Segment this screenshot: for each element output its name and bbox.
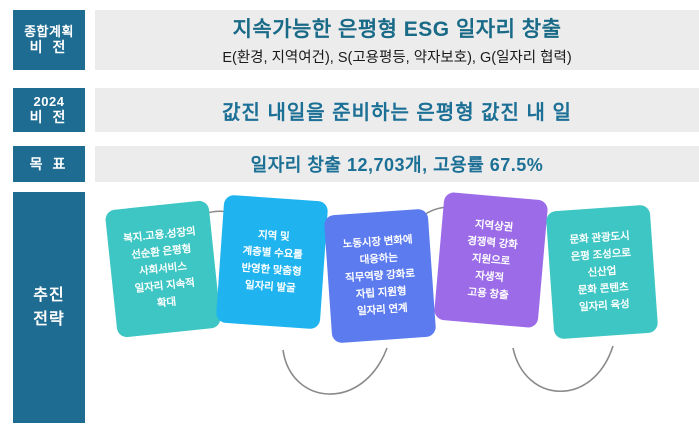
strategy-item-5-text: 문화 관광도시 은평 조성으로 신산업 문화 콘텐츠 일자리 육성 [569,228,635,317]
strategy-label-line2: 전략 [33,308,64,332]
goal-title: 일자리 창출 12,703개, 고용률 67.5% [251,151,544,177]
vision-row-content: 지속가능한 은평형 ESG 일자리 창출 E(환경, 지역여건), S(고용평등… [95,10,699,70]
vision-title: 지속가능한 은평형 ESG 일자리 창출 [233,13,562,43]
strategy-label-line1: 추진 [33,284,64,308]
vision-2024-row: 2024 비 전 값진 내일을 준비하는 은평형 값진 내 일 [0,88,699,132]
strategy-item-1: 복지.고용.성장의 선순환 은평형 사회서비스 일자리 지속적 확대 [105,200,222,338]
vision-row-label: 종합계획 비 전 [13,10,85,70]
vision-row: 종합계획 비 전 지속가능한 은평형 ESG 일자리 창출 E(환경, 지역여건… [0,10,699,70]
goal-row-content: 일자리 창출 12,703개, 고용률 67.5% [95,146,699,182]
vision-subtitle: E(환경, 지역여건), S(고용평등, 약자보호), G(일자리 협력) [222,46,571,67]
vision-2024-row-label: 2024 비 전 [13,88,85,132]
vision-label-line1: 종합계획 [24,24,74,39]
strategy-item-2-text: 지역 및 계층별 수요를 반영한 맞춤형 일자리 발굴 [240,226,305,298]
strategy-item-5: 문화 관광도시 은평 조성으로 신산업 문화 콘텐츠 일자리 육성 [546,205,659,340]
goal-row-label: 목 표 [13,146,85,182]
strategy-item-3: 노동시장 변화에 대응하는 직무역량 강화로 자립 지원형 일자리 연계 [324,209,437,344]
strategy-item-2: 지역 및 계층별 수요를 반영한 맞춤형 일자리 발굴 [216,195,329,330]
strategy-item-1-text: 복지.고용.성장의 선순환 은평형 사회서비스 일자리 지속적 확대 [122,223,203,315]
vision-2024-title: 값진 내일을 준비하는 은평형 값진 내 일 [222,96,572,125]
strategy-diagram: 복지.고용.성장의 선순환 은평형 사회서비스 일자리 지속적 확대 지역 및 … [95,190,699,433]
goal-label-line1: 목 표 [30,156,69,173]
strategy-row-label: 추진 전략 [13,192,85,423]
vision-2024-label-line2: 비 전 [30,109,69,126]
infographic-page: 종합계획 비 전 지속가능한 은평형 ESG 일자리 창출 E(환경, 지역여건… [0,0,699,433]
vision-2024-row-content: 값진 내일을 준비하는 은평형 값진 내 일 [95,88,699,132]
strategy-item-3-text: 노동시장 변화에 대응하는 직무역량 강화로 자립 지원형 일자리 연계 [342,231,418,321]
strategy-item-4-text: 지역상권 경쟁력 강화 지원으로 자생적 고용 창출 [462,215,520,304]
vision-label-line2: 비 전 [30,39,69,56]
vision-2024-label-line1: 2024 [34,94,65,109]
strategy-item-4: 지역상권 경쟁력 강화 지원으로 자생적 고용 창출 [434,192,549,329]
goal-row: 목 표 일자리 창출 12,703개, 고용률 67.5% [0,146,699,182]
